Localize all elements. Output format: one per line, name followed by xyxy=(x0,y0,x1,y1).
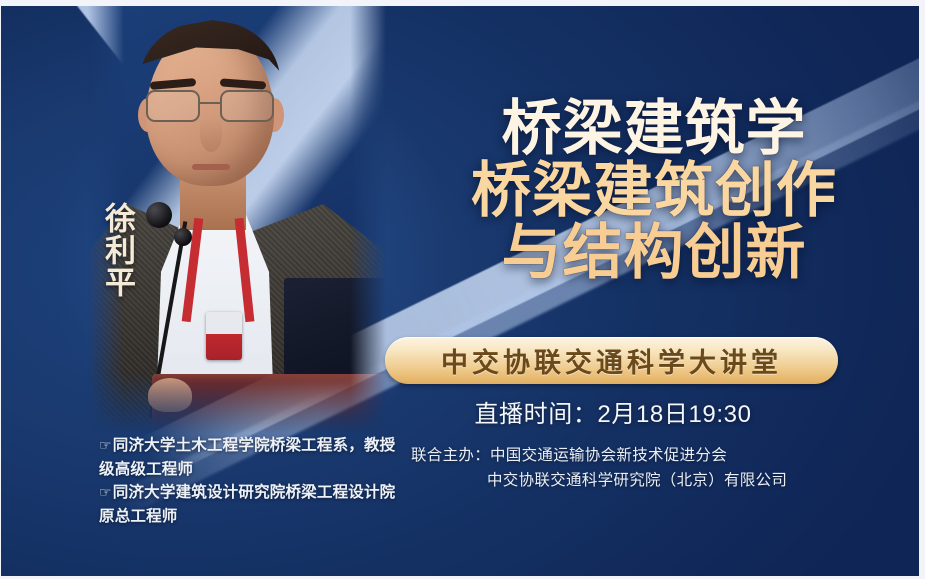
series-banner: 中交协联交通科学大讲堂 xyxy=(385,337,838,384)
series-banner-text: 中交协联交通科学大讲堂 xyxy=(441,341,782,380)
nose xyxy=(200,118,222,152)
speaker-credentials: ☞同济大学土木工程学院桥梁工程系，教授级高级工程师 ☞同济大学建筑设计研究院桥梁… xyxy=(99,434,399,528)
title-line-2: 桥梁建筑创作 xyxy=(388,160,919,222)
lens-right xyxy=(220,90,274,122)
credential-line: ☞同济大学土木工程学院桥梁工程系，教授级高级工程师 xyxy=(99,434,399,481)
pointing-hand-icon: ☞ xyxy=(99,437,112,453)
poster-title: 桥梁建筑学 桥梁建筑创作 与结构创新 xyxy=(388,98,919,283)
organizer-line-1: 联合主办：中国交通运输协会新技术促进分会 xyxy=(411,443,881,468)
credential-text: 同济大学建筑设计研究院桥梁工程设计院原总工程师 xyxy=(99,484,395,525)
title-line-1: 桥梁建筑学 xyxy=(388,98,919,160)
frame-edge-right xyxy=(919,0,925,579)
pointing-hand-icon: ☞ xyxy=(99,484,112,500)
laptop xyxy=(284,278,386,382)
organizers-block: 联合主办：中国交通运输协会新技术促进分会 中交协联交通科学研究院（北京）有限公司 xyxy=(411,443,881,493)
live-time: 直播时间：2月18日19:30 xyxy=(388,394,838,429)
microphone-head xyxy=(146,202,172,228)
speaker-name: 徐利平 xyxy=(86,202,134,298)
mouth xyxy=(192,164,230,170)
microphone-head-secondary xyxy=(174,228,192,246)
title-line-3: 与结构创新 xyxy=(388,222,919,284)
poster-stage: 徐利平 ☞同济大学土木工程学院桥梁工程系，教授级高级工程师 ☞同济大学建筑设计研… xyxy=(0,6,919,576)
credential-line: ☞同济大学建筑设计研究院桥梁工程设计院原总工程师 xyxy=(99,481,399,528)
hand xyxy=(148,378,192,412)
glasses-bridge xyxy=(200,102,222,104)
organizer-line-2: 中交协联交通科学研究院（北京）有限公司 xyxy=(411,468,881,493)
credential-text: 同济大学土木工程学院桥梁工程系，教授级高级工程师 xyxy=(99,437,395,478)
lens-left xyxy=(146,90,200,122)
poster-canvas: 徐利平 ☞同济大学土木工程学院桥梁工程系，教授级高级工程师 ☞同济大学建筑设计研… xyxy=(0,0,925,579)
name-badge xyxy=(206,312,242,360)
